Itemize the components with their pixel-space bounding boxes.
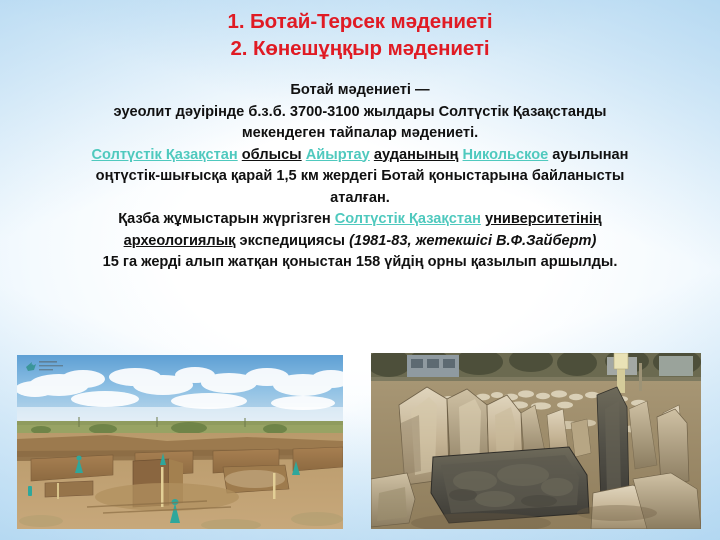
body-text-run: экспедициясы — [235, 233, 349, 249]
body-text-run: аталған. — [330, 190, 390, 206]
title-line-1: 1. Ботай-Терсек мәдениеті — [0, 8, 720, 35]
body-line-2: эуеолит дәуірінде б.з.б. 3700-3100 жылда… — [0, 102, 720, 124]
body-text-run: Қазба жұмыстарын жүргізген — [118, 211, 334, 227]
slide-canvas: 1. Ботай-Терсек мәдениеті 2. Көнешұңқыр … — [0, 0, 720, 540]
body-text-run: эуеолит дәуірінде б.з.б. 3700-3100 жылда… — [113, 104, 606, 120]
body-text: Ботай мәдениеті —эуеолит дәуірінде б.з.б… — [0, 80, 720, 274]
body-underlined-run: ауданының — [374, 147, 459, 163]
body-line-7: Қазба жұмыстарын жүргізген Солтүстік Қаз… — [0, 209, 720, 231]
body-link[interactable]: Никольское — [463, 147, 549, 163]
body-line-8: археологиялық экспедициясы (1981-83, жет… — [0, 231, 720, 253]
body-link[interactable]: Солтүстік Қазақстан — [92, 147, 238, 163]
watermark-icon — [23, 358, 75, 376]
body-link[interactable]: Айыртау — [306, 147, 370, 163]
body-underlined-run: облысы — [242, 147, 302, 163]
body-text-run: ауылынан — [548, 147, 628, 163]
body-line-3: мекендеген тайпалар мәдениеті. — [0, 123, 720, 145]
stone-cist-photo-image — [371, 353, 701, 529]
body-text-run: 15 га жерді алып жатқан қоныстан 158 үйд… — [103, 254, 618, 270]
body-text-run: Ботай мәдениеті — — [290, 82, 429, 98]
body-line-9: 15 га жерді алып жатқан қоныстан 158 үйд… — [0, 252, 720, 274]
stone-cist-burial-photo — [371, 353, 701, 529]
body-text-run: мекендеген тайпалар мәдениеті. — [242, 125, 478, 141]
body-line-6: аталған. — [0, 188, 720, 210]
body-italic-run: (1981-83, жетекшісі В.Ф.Зайберт) — [349, 233, 596, 249]
page-title: 1. Ботай-Терсек мәдениеті 2. Көнешұңқыр … — [0, 8, 720, 62]
body-line-5: оңтүстік-шығысқа қарай 1,5 км жердегі Бо… — [0, 166, 720, 188]
body-line-1: Ботай мәдениеті — — [0, 80, 720, 102]
body-underlined-run: университетінің — [485, 211, 602, 227]
title-line-2: 2. Көнешұңқыр мәдениеті — [0, 35, 720, 62]
body-line-4: Солтүстік Қазақстан облысы Айыртау аудан… — [0, 145, 720, 167]
botai-excavation-photo — [17, 355, 343, 529]
body-text-run: оңтүстік-шығысқа қарай 1,5 км жердегі Бо… — [96, 168, 625, 184]
body-link[interactable]: Солтүстік Қазақстан — [335, 211, 481, 227]
excavation-photo-image — [17, 355, 343, 529]
body-underlined-run: археологиялық — [124, 233, 236, 249]
